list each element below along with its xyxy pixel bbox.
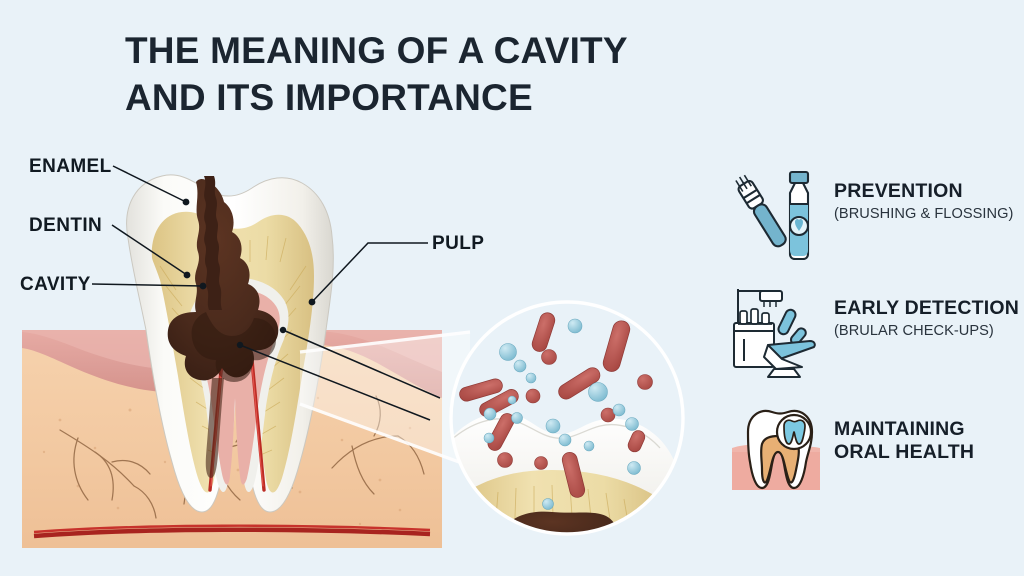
panel-item-prevention[interactable]: PREVENTION (BRUSHING & FLOSSING) (716, 166, 1016, 270)
label-cavity: CAVITY (20, 274, 91, 296)
infographic-canvas: THE MEANING OF A CAVITY AND ITS IMPORTAN… (0, 0, 1024, 576)
panel-item-text: PREVENTION (BRUSHING & FLOSSING) (834, 180, 1024, 224)
healthy-tooth-shield-icon (724, 396, 828, 496)
panel-item-subtitle: (BRUSHING & FLOSSING) (834, 206, 1024, 224)
toothbrush-and-mouthwash-icon (724, 166, 828, 266)
panel-item-title: EARLY DETECTION (834, 297, 1024, 320)
dental-chair-icon (724, 283, 828, 383)
panel-item-subtitle: (BRULAR CHECK-UPS) (834, 323, 1024, 341)
label-pulp: PULP (432, 233, 484, 255)
panel-item-title: MAINTAINING ORAL HEALTH (834, 418, 1024, 464)
label-dentin: DENTIN (29, 215, 102, 237)
magnified-cavity-inset (451, 302, 684, 546)
panel-item-text: EARLY DETECTION (BRULAR CHECK-UPS) (834, 297, 1024, 341)
panel-item-text: MAINTAINING ORAL HEALTH (834, 418, 1024, 464)
page-title: THE MEANING OF A CAVITY AND ITS IMPORTAN… (125, 27, 765, 122)
panel-item-title: PREVENTION (834, 180, 1024, 203)
panel-item-maintaining-oral-health[interactable]: MAINTAINING ORAL HEALTH (716, 396, 1016, 500)
label-enamel: ENAMEL (29, 156, 112, 178)
panel-item-early-detection[interactable]: EARLY DETECTION (BRULAR CHECK-UPS) (716, 283, 1016, 387)
